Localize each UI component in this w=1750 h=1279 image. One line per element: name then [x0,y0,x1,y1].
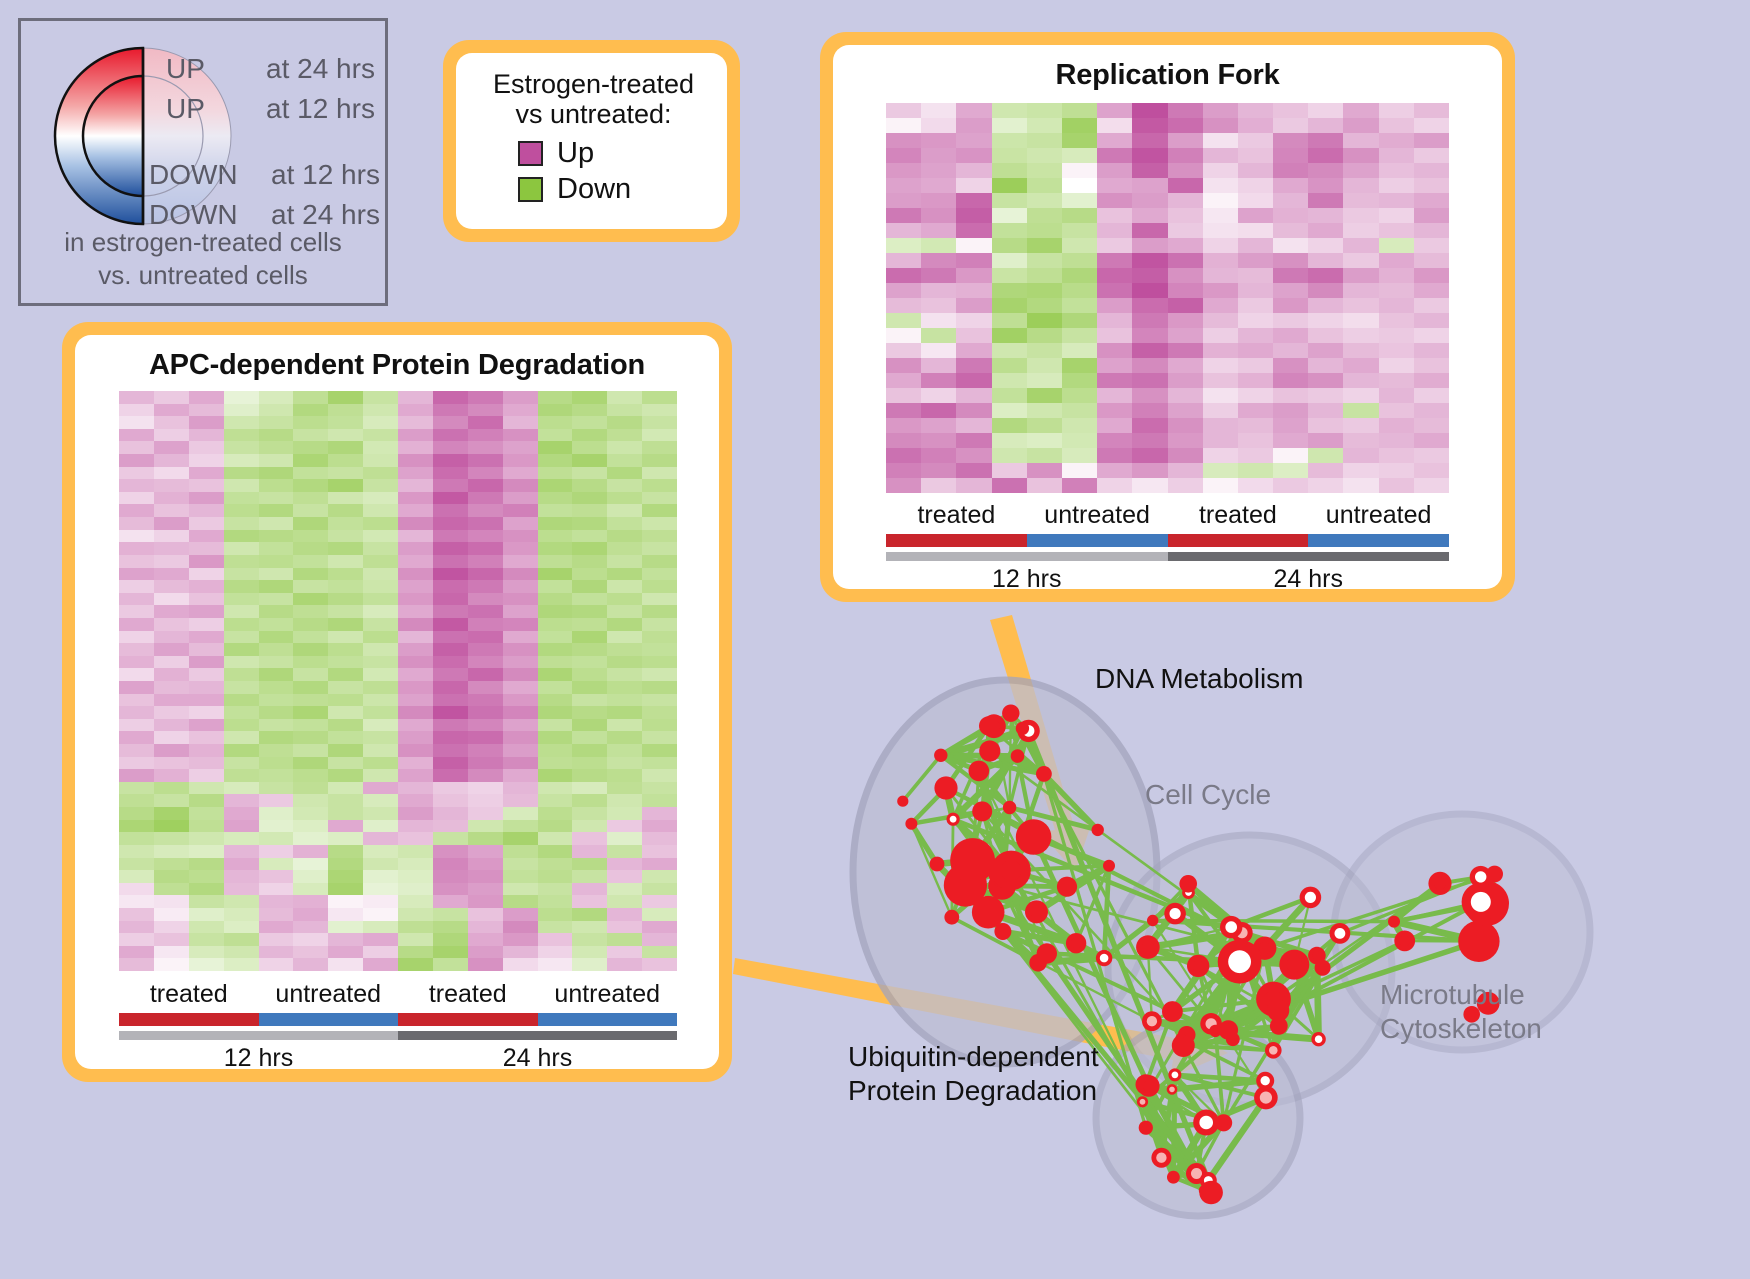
heatmap-cell [1273,328,1308,343]
cluster-label-ubiquitin-line1: Ubiquitin-dependent [848,1040,1099,1074]
heatmap-cell [189,820,224,833]
heatmap-cell [189,668,224,681]
heatmap-cell [642,656,677,669]
heatmap-cell [921,268,956,283]
heatmap-cell [607,870,642,883]
heatmap-cell [398,631,433,644]
heatmap-cell [224,731,259,744]
network-node[interactable] [934,776,957,799]
network-node[interactable] [1199,1181,1223,1205]
heatmap-cell [1273,418,1308,433]
heatmap-cell [1273,238,1308,253]
heatmap-cell [1168,148,1203,163]
heatmap-cell [293,908,328,921]
heatmap-cell [538,820,573,833]
heatmap-cell [433,744,468,757]
heatmap-cell [642,530,677,543]
heatmap-cell [538,479,573,492]
heatmap-cell [328,593,363,606]
condition-labels: treated untreated treated untreated [886,501,1449,530]
heatmap-cell [1238,163,1273,178]
time-labels: 12 hrs 24 hrs [119,1044,677,1073]
heatmap-cell [886,298,921,313]
heatmap-cell [956,478,991,493]
network-node-core [1260,1092,1272,1104]
heatmap-cell [154,605,189,618]
heatmap-cell [503,908,538,921]
cluster-label-ubiquitin-line2: Protein Degradation [848,1074,1099,1108]
heatmap-cell [992,268,1027,283]
heatmap-cell [1132,313,1167,328]
cluster-label-microtubule-line1: Microtubule [1380,978,1542,1012]
heatmap-cell [1308,358,1343,373]
heatmap-cell [503,895,538,908]
heatmap-cell [398,719,433,732]
heatmap-cell [1097,148,1132,163]
heatmap-cell [1273,433,1308,448]
heatmap-cell [1414,118,1449,133]
heatmap-cell [433,555,468,568]
heatmap-cell [224,618,259,631]
heatmap-cell [433,404,468,417]
network-node[interactable] [979,740,1000,761]
heatmap-cell [642,769,677,782]
heatmap-cell [538,883,573,896]
heatmap-cell [1273,448,1308,463]
heatmap-cell [189,492,224,505]
heatmap-cell [538,643,573,656]
heatmap-cell [259,391,294,404]
heatmap-cell [363,429,398,442]
heatmap-cell [468,706,503,719]
network-node[interactable] [969,761,990,782]
heatmap-cell [433,504,468,517]
heatmap-cell [468,631,503,644]
heatmap-cell [1027,463,1062,478]
network-graph [790,600,1750,1279]
network-node-core [1178,1036,1184,1042]
heatmap-cell [224,404,259,417]
heatmap-cell [433,958,468,971]
heatmap-cell [1308,268,1343,283]
heatmap-cell [293,845,328,858]
heatmap-cell [189,706,224,719]
heatmap-cell [572,794,607,807]
heatmap-cell [1203,223,1238,238]
heatmap-cell [293,568,328,581]
heatmap-cell [538,908,573,921]
apc-degradation-inner: APC-dependent Protein Degradation treate… [75,335,719,1069]
network-node[interactable] [972,801,992,821]
heatmap-cell [468,958,503,971]
heatmap-cell [468,744,503,757]
heatmap-cell [1027,478,1062,493]
heatmap-cell [1062,478,1097,493]
heatmap-cell [538,946,573,959]
heatmap-cell [468,580,503,593]
heatmap-cell [224,769,259,782]
heatmap-cell [538,933,573,946]
heatmap-cell [642,643,677,656]
network-node[interactable] [1016,722,1029,735]
heatmap-cell [538,782,573,795]
heatmap-cell [363,832,398,845]
heatmap-cell [642,605,677,618]
heatmap-cell [607,895,642,908]
figure-canvas: UP at 24 hrs UP at 12 hrs DOWN at 12 hrs… [0,0,1750,1279]
heatmap-cell [398,542,433,555]
heatmap-cell [1062,343,1097,358]
heatmap-cell [259,643,294,656]
heatmap-cell [503,416,538,429]
heatmap-cell [1308,103,1343,118]
heatmap-cell [642,681,677,694]
heatmap-cell [259,832,294,845]
heatmap-cell [1414,163,1449,178]
heatmap-cell [572,694,607,707]
heatmap-cell [328,530,363,543]
heatmap-cell [293,542,328,555]
heatmap-cell [468,454,503,467]
network-node[interactable] [1103,860,1115,872]
heatmap-cell [398,694,433,707]
heatmap-cell [363,794,398,807]
heatmap-cell [328,694,363,707]
heatmap-cell [293,870,328,883]
heatmap-cell [642,706,677,719]
heatmap-cell [1238,208,1273,223]
heatmap-cell [259,479,294,492]
network-node[interactable] [1267,999,1289,1021]
heatmap-cell [538,958,573,971]
heatmap-cell [468,517,503,530]
heatmap-cell [189,794,224,807]
network-node[interactable] [1016,819,1052,855]
heatmap-cell [433,580,468,593]
heatmap-cell [886,133,921,148]
heatmap-cell [1062,328,1097,343]
heatmap-cell [293,391,328,404]
network-node-core [1169,1087,1175,1093]
heatmap-cell [224,555,259,568]
heatmap-cell [1203,463,1238,478]
heatmap-cell [328,454,363,467]
heatmap-cell [224,744,259,757]
heatmap-cell [607,845,642,858]
heatmap-cell [189,391,224,404]
heatmap-cell [503,404,538,417]
heatmap-cell [154,832,189,845]
dial-row-2-time: at 12 hrs [271,159,380,191]
heatmap-cell [1027,178,1062,193]
heatmap-cell [398,794,433,807]
heatmap-cell [1379,328,1414,343]
heatmap-cell [1379,463,1414,478]
heatmap-cell [572,391,607,404]
heatmap-cell [328,492,363,505]
heatmap-cell [119,794,154,807]
heatmap-cell [1027,313,1062,328]
network-node[interactable] [1003,801,1016,814]
heatmap-cell [1097,103,1132,118]
heatmap-cell [1062,448,1097,463]
heatmap-cell [1027,118,1062,133]
heatmap-cell [363,656,398,669]
heatmap-cell [1027,328,1062,343]
heatmap-cell [259,530,294,543]
heatmap-cell [468,845,503,858]
heatmap-cell [1414,478,1449,493]
heatmap-cell [921,343,956,358]
network-node-core [1259,942,1271,954]
heatmap-cell [224,605,259,618]
heatmap-cell [642,467,677,480]
heatmap-cell [1062,163,1097,178]
heatmap-cell [224,706,259,719]
heatmap-cell [189,883,224,896]
heatmap-cell [328,605,363,618]
heatmap-cell [328,542,363,555]
heatmap-cell [119,668,154,681]
heatmap-cell [1097,388,1132,403]
heatmap-cell [503,504,538,517]
heatmap-cell [468,807,503,820]
heatmap-cell [503,706,538,719]
heatmap-cell [1308,178,1343,193]
heatmap-cell [1203,163,1238,178]
heatmap-cell [398,416,433,429]
heatmap-cell [572,618,607,631]
heatmap-cell [328,706,363,719]
network-edge [1153,921,1394,922]
condition-bar-1 [1027,534,1168,547]
network-node-core [1312,951,1321,960]
heatmap-cell [189,933,224,946]
heatmap-cell [642,694,677,707]
network-node-core [1468,931,1490,953]
heatmap-cell [433,946,468,959]
heatmap-cell [363,719,398,732]
heatmap-cell [1062,403,1097,418]
heatmap-cell [1273,208,1308,223]
heatmap-cell [293,643,328,656]
heatmap-cell [572,542,607,555]
heatmap-cell [1062,418,1097,433]
heatmap-cell [1168,358,1203,373]
cluster-label-dna-metabolism: DNA Metabolism [1095,662,1304,696]
heatmap-cell [468,656,503,669]
heatmap-cell [1203,208,1238,223]
heatmap-cell [433,794,468,807]
heatmap-cell [1097,298,1132,313]
heatmap-cell [572,555,607,568]
condition-label-2: treated [1168,501,1309,530]
heatmap-cell [1027,358,1062,373]
heatmap-cell [1414,298,1449,313]
heatmap-cell [1379,253,1414,268]
heatmap-cell [363,958,398,971]
heatmap-cell [119,845,154,858]
heatmap-cell [154,479,189,492]
heatmap-cell [433,681,468,694]
heatmap-cell [1027,433,1062,448]
estrogen-legend-entries: Up Down [474,137,713,206]
network-node[interactable] [905,818,917,830]
heatmap-cell [572,492,607,505]
heatmap-cell [224,807,259,820]
heatmap-cell [607,719,642,732]
heatmap-cell [1062,223,1097,238]
heatmap-cell [189,921,224,934]
network-node[interactable] [979,716,998,735]
heatmap-cell [956,313,991,328]
heatmap-cell [1062,313,1097,328]
heatmap-cell [1062,178,1097,193]
heatmap-cell [1308,343,1343,358]
heatmap-cell [642,883,677,896]
heatmap-cell [398,731,433,744]
heatmap-cell [259,757,294,770]
network-node-core [1170,908,1181,919]
dial-row-1-time: at 12 hrs [266,93,375,125]
heatmap-cell [293,681,328,694]
heatmap-cell [398,568,433,581]
expression-dial-legend: UP at 24 hrs UP at 12 hrs DOWN at 12 hrs… [18,18,388,306]
heatmap-cell [293,668,328,681]
heatmap-cell [503,656,538,669]
network-node[interactable] [930,857,945,872]
heatmap-cell [1132,163,1167,178]
heatmap-cell [642,441,677,454]
heatmap-cell [154,492,189,505]
heatmap-cell [1203,373,1238,388]
heatmap-cell [119,530,154,543]
heatmap-cell [992,418,1027,433]
heatmap-cell [224,694,259,707]
heatmap-cell [642,593,677,606]
network-node[interactable] [1011,749,1025,763]
dial-row-1-label: UP [166,93,205,125]
heatmap-cell [1273,253,1308,268]
network-node[interactable] [944,910,959,925]
heatmap-cell [538,404,573,417]
heatmap-cell [154,858,189,871]
heatmap-cell [259,870,294,883]
network-node[interactable] [950,838,995,883]
heatmap-cell [607,921,642,934]
network-node[interactable] [1179,875,1197,893]
heatmap-cell [154,845,189,858]
heatmap-cell [1203,253,1238,268]
heatmap-cell [328,769,363,782]
network-node[interactable] [1057,877,1077,897]
heatmap-cell [992,103,1027,118]
network-node-core [1167,1006,1178,1017]
heatmap-cell [503,794,538,807]
heatmap-cell [398,958,433,971]
replication-fork-heatmap [886,103,1449,493]
heatmap-cell [328,744,363,757]
heatmap-cell [538,416,573,429]
heatmap-cell [1168,478,1203,493]
heatmap-cell [154,643,189,656]
heatmap-cell [1097,373,1132,388]
heatmap-cell [293,467,328,480]
heatmap-cell [538,492,573,505]
heatmap-cell [1379,178,1414,193]
heatmap-cell [956,148,991,163]
heatmap-cell [1273,388,1308,403]
heatmap-cell [224,542,259,555]
heatmap-cell [363,441,398,454]
heatmap-cell [538,832,573,845]
network-node-core [1199,1116,1213,1130]
heatmap-cell [259,706,294,719]
network-node[interactable] [897,796,908,807]
heatmap-cell [119,416,154,429]
heatmap-cell [224,530,259,543]
heatmap-cell [956,253,991,268]
heatmap-cell [259,542,294,555]
heatmap-cell [328,946,363,959]
heatmap-cell [607,858,642,871]
heatmap-cell [607,454,642,467]
network-node-core [1269,1046,1278,1055]
heatmap-cell [224,832,259,845]
heatmap-cell [433,870,468,883]
heatmap-cell [1379,238,1414,253]
heatmap-cell [992,208,1027,223]
heatmap-cell [293,782,328,795]
heatmap-cell [328,807,363,820]
heatmap-cell [886,343,921,358]
heatmap-cell [433,858,468,871]
heatmap-cell [259,681,294,694]
network-node[interactable] [934,749,947,762]
network-node-core [1305,892,1316,903]
network-node[interactable] [1029,954,1047,972]
heatmap-cell [259,504,294,517]
heatmap-cell [956,388,991,403]
heatmap-cell [1414,373,1449,388]
heatmap-cell [503,946,538,959]
heatmap-cell [119,870,154,883]
heatmap-cell [363,416,398,429]
heatmap-cell [154,593,189,606]
network-node-core [1156,1153,1166,1163]
heatmap-cell [572,946,607,959]
heatmap-cell [921,403,956,418]
heatmap-cell [607,530,642,543]
network-node[interactable] [1036,766,1052,782]
heatmap-cell [607,908,642,921]
heatmap-cell [642,895,677,908]
heatmap-cell [1273,193,1308,208]
heatmap-cell [503,820,538,833]
heatmap-cell [992,358,1027,373]
heatmap-cell [433,530,468,543]
heatmap-cell [433,542,468,555]
heatmap-cell [1343,193,1378,208]
heatmap-cell [1238,298,1273,313]
heatmap-cell [259,858,294,871]
heatmap-cell [189,605,224,618]
heatmap-cell [189,908,224,921]
heatmap-cell [503,479,538,492]
heatmap-cell [886,268,921,283]
heatmap-cell [921,103,956,118]
heatmap-cell [189,568,224,581]
